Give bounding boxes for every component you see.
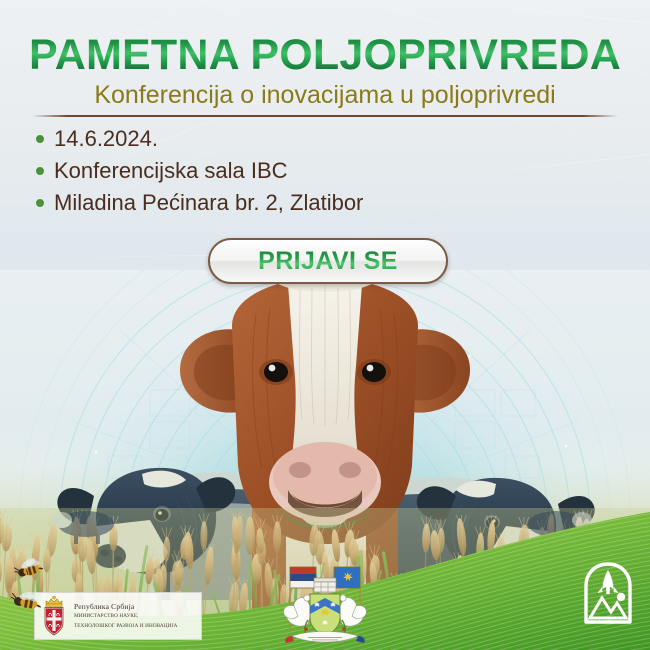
ministry-name-line1: МИНИСТАРСТВО НАУКЕ, bbox=[74, 613, 177, 620]
bullet-dot-icon bbox=[36, 199, 44, 207]
list-item: 14.6.2024. bbox=[36, 126, 556, 152]
bee-icon-1 bbox=[14, 556, 48, 582]
zlatibor-logo bbox=[578, 556, 638, 628]
register-button-label: PRIJAVI SE bbox=[258, 247, 398, 276]
bullet-dot-icon bbox=[36, 167, 44, 175]
page-subtitle: Konferencija o inovacijama u poljoprivre… bbox=[0, 82, 650, 108]
ministry-country-label: Република Србија bbox=[74, 602, 177, 611]
poster-heading: PAMETNA POLJOPRIVREDA Konferencija o ino… bbox=[0, 34, 650, 108]
ministry-name-line2: ТЕХНОЛОШКОГ РАЗВОЈА И ИНОВАЦИЈА bbox=[74, 623, 177, 630]
municipality-coat-of-arms bbox=[276, 562, 374, 650]
cow-eye-right bbox=[357, 359, 391, 385]
ministry-logo: Република Србија МИНИСТАРСТВО НАУКЕ, ТЕХ… bbox=[34, 592, 202, 640]
conference-poster: PAMETNA POLJOPRIVREDA Konferencija o ino… bbox=[0, 0, 650, 650]
event-details-list: 14.6.2024. Konferencijska sala IBC Milad… bbox=[36, 126, 556, 222]
event-address: Miladina Pećinara br. 2, Zlatibor bbox=[54, 190, 363, 216]
zlatibor-arch-mountain-icon bbox=[578, 556, 638, 628]
title-divider bbox=[32, 115, 618, 117]
cajetina-coat-of-arms-icon bbox=[276, 562, 374, 650]
register-button[interactable]: PRIJAVI SE bbox=[208, 238, 448, 284]
bee-icon-2 bbox=[10, 588, 46, 616]
cow-eye-left bbox=[259, 359, 293, 385]
list-item: Konferencijska sala IBC bbox=[36, 158, 556, 184]
event-venue: Konferencijska sala IBC bbox=[54, 158, 288, 184]
bullet-dot-icon bbox=[36, 135, 44, 143]
event-date: 14.6.2024. bbox=[54, 126, 158, 152]
list-item: Miladina Pećinara br. 2, Zlatibor bbox=[36, 190, 556, 216]
page-title: PAMETNA POLJOPRIVREDA bbox=[29, 34, 621, 77]
